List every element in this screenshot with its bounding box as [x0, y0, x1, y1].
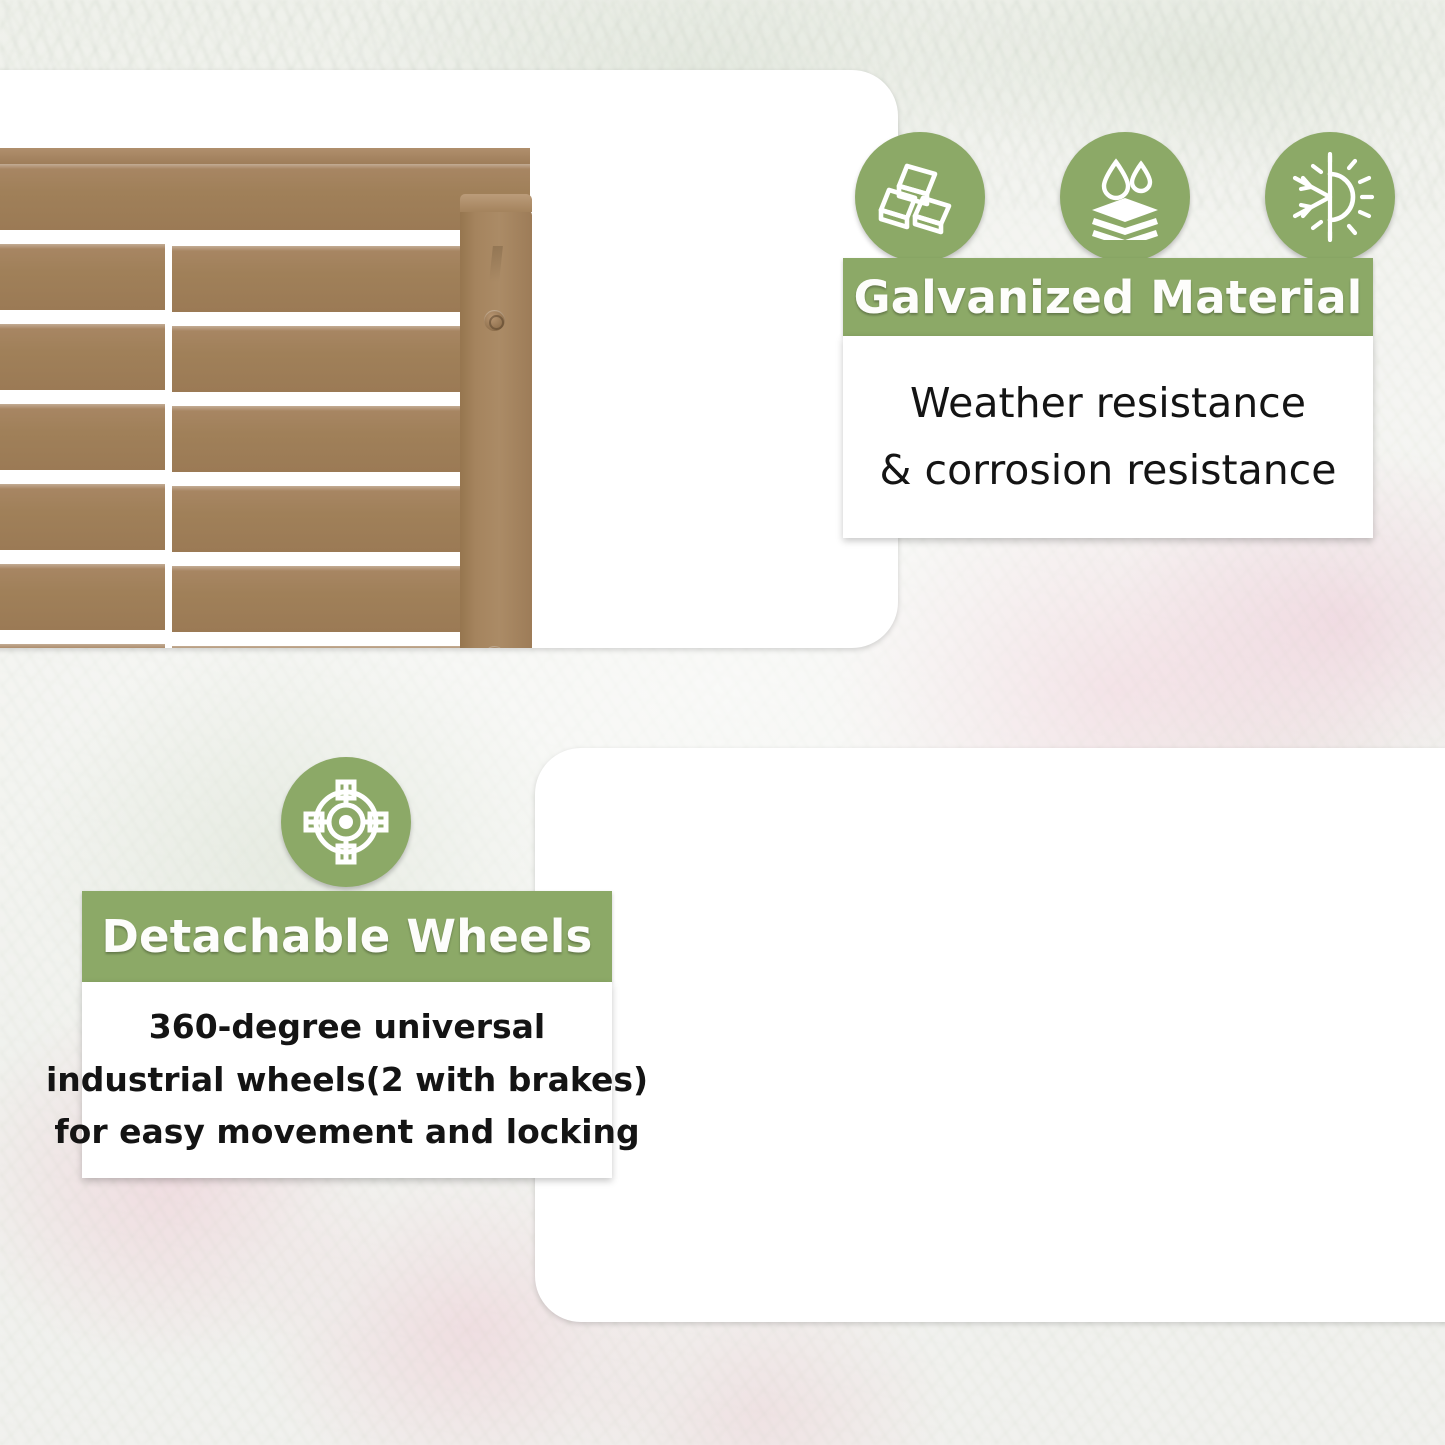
post-rivet: [484, 310, 505, 331]
panel-slat: [0, 244, 165, 310]
panel-corner-post: [460, 210, 532, 648]
feature-description-panel: Weather resistance & corrosion resistanc…: [843, 336, 1373, 538]
feature-icon-row: [855, 132, 1395, 262]
panel-slat: [0, 484, 165, 550]
feature-line: Weather resistance: [910, 382, 1306, 425]
post-rivet: [484, 646, 505, 648]
panel-slat: [0, 644, 165, 648]
panel-slat: [0, 164, 530, 230]
panel-slat: [0, 404, 165, 470]
feature-line: industrial wheels(2 with brakes): [46, 1063, 648, 1098]
metal-ingots-icon: [855, 132, 985, 262]
feature-line: 360-degree universal: [149, 1010, 545, 1045]
feature-title-text: Detachable Wheels: [102, 910, 593, 963]
feature-icon-row: [281, 757, 411, 887]
feature-line: & corrosion resistance: [880, 449, 1337, 492]
product-photo-card-top: [0, 70, 898, 648]
swivel-target-icon: [281, 757, 411, 887]
feature-title-banner: Detachable Wheels: [82, 891, 612, 982]
feature-title-banner: Galvanized Material: [843, 258, 1373, 336]
panel-slat: [0, 564, 165, 630]
slatted-fence-panel: [0, 148, 570, 648]
feature-title-text: Galvanized Material: [854, 271, 1363, 324]
snowflake-sun-icon: [1265, 132, 1395, 262]
panel-slat: [0, 324, 165, 390]
feature-line: for easy movement and locking: [54, 1115, 639, 1150]
feature-description-panel: 360-degree universal industrial wheels(2…: [82, 982, 612, 1178]
post-top-cap: [460, 194, 532, 212]
post-highlight: [489, 246, 503, 282]
water-repellent-layers-icon: [1060, 132, 1190, 262]
panel-top-cap: [0, 148, 530, 165]
product-photo-card-bottom: [535, 748, 1445, 1322]
